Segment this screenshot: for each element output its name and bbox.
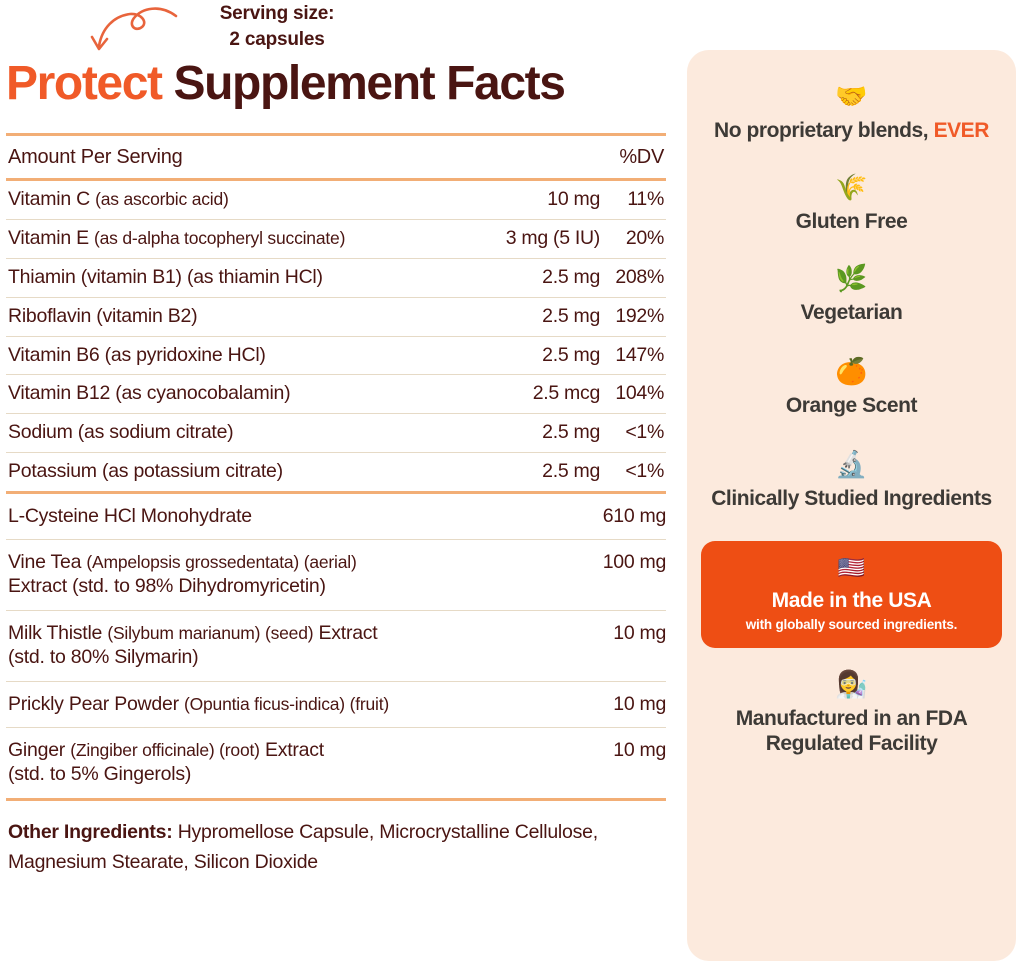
ingredient-source: (Opuntia ficus-indica) (fruit)	[184, 694, 389, 714]
benefit-label: Gluten Free	[701, 209, 1002, 234]
ingredient-dv: 20%	[600, 227, 666, 251]
ingredient-dv: <1%	[600, 460, 666, 484]
other-ingredients: Other Ingredients: Hypromellose Capsule,…	[6, 801, 666, 877]
ingredient-dv: 208%	[600, 266, 666, 290]
ingredient-name: L-Cysteine HCl Monohydrate	[6, 505, 546, 529]
ingredient-dv: 104%	[600, 382, 666, 406]
percent-dv-header: %DV	[600, 145, 666, 169]
ingredient-amount: 100 mg	[546, 551, 666, 575]
handshake-icon: 🤝	[701, 82, 1002, 112]
ingredient-name-line3: (std. to 5% Gingerols)	[8, 763, 191, 785]
botanicals-section: L-Cysteine HCl Monohydrate 610 mg Vine T…	[6, 494, 666, 798]
ingredient-source: (as ascorbic acid)	[95, 189, 229, 209]
ingredient-dv: <1%	[600, 421, 666, 445]
ingredient-amount: 3 mg (5 IU)	[450, 227, 600, 251]
table-row: Thiamin (vitamin B1) (as thiamin HCl) 2.…	[6, 259, 666, 297]
ingredient-name-suffix: Extract	[260, 739, 324, 761]
ingredient-amount: 2.5 mg	[450, 344, 600, 368]
ingredient-amount: 10 mg	[546, 739, 666, 763]
table-row: Ginger (Zingiber officinale) (root) Extr…	[6, 728, 666, 798]
table-row: Prickly Pear Powder (Opuntia ficus-indic…	[6, 682, 666, 728]
ingredient-dv: 11%	[600, 188, 666, 212]
supplement-facts-page: Serving size: 2 capsules Protect Supplem…	[0, 0, 1024, 969]
ingredient-source: (Ampelopsis grossedentata) (aerial)	[86, 552, 356, 572]
ingredient-amount: 610 mg	[546, 505, 666, 529]
ingredient-source: (Silybum marianum) (seed)	[107, 623, 313, 643]
table-row: Vitamin E (as d-alpha tocopheryl succina…	[6, 220, 666, 258]
table-row: Sodium (as sodium citrate) 2.5 mg <1%	[6, 414, 666, 452]
ingredient-name: Sodium (as sodium citrate)	[6, 421, 450, 445]
benefit-no-proprietary-blends: 🤝 No proprietary blends, EVER	[701, 82, 1002, 143]
table-row: Vitamin C (as ascorbic acid) 10 mg 11%	[6, 181, 666, 219]
title-accent-word: Protect	[6, 57, 162, 110]
ingredient-amount: 2.5 mg	[450, 305, 600, 329]
benefit-label: Clinically Studied Ingredients	[701, 486, 1002, 511]
ingredient-amount: 2.5 mg	[450, 460, 600, 484]
benefit-orange-scent: 🍊 Orange Scent	[701, 357, 1002, 418]
ingredient-source: (Zingiber officinale) (root)	[70, 740, 260, 760]
benefit-fda-regulated-facility: 👩‍🔬 Manufactured in an FDA Regulated Fac…	[701, 670, 1002, 756]
microscope-icon: 🔬	[701, 450, 1002, 480]
ingredient-amount: 2.5 mg	[450, 421, 600, 445]
table-row: Riboflavin (vitamin B2) 2.5 mg 192%	[6, 298, 666, 336]
benefit-label: Vegetarian	[701, 300, 1002, 325]
benefit-vegetarian: 🌿 Vegetarian	[701, 264, 1002, 325]
page-title: Protect Supplement Facts	[6, 60, 565, 108]
supplement-facts-table: Amount Per Serving %DV Vitamin C (as asc…	[6, 133, 666, 877]
amount-per-serving-header: Amount Per Serving	[6, 145, 600, 169]
ingredient-amount: 10 mg	[450, 188, 600, 212]
other-ingredients-label: Other Ingredients:	[8, 821, 173, 843]
table-row: Potassium (as potassium citrate) 2.5 mg …	[6, 453, 666, 491]
serving-size-text: Serving size: 2 capsules	[172, 1, 382, 52]
us-flag-icon: 🇺🇸	[711, 555, 992, 581]
table-header-row: Amount Per Serving %DV	[6, 136, 666, 178]
ingredient-name-line3: (std. to 80% Silymarin)	[8, 646, 198, 668]
ingredient-amount: 10 mg	[546, 693, 666, 717]
ingredient-name: Milk Thistle	[8, 622, 107, 644]
ingredient-name-suffix: Extract	[313, 622, 377, 644]
made-in-usa-label: Made in the USA	[711, 588, 992, 613]
serving-size-line1: Serving size:	[220, 3, 335, 24]
table-row: Milk Thistle (Silybum marianum) (seed) E…	[6, 611, 666, 681]
ingredient-name: Prickly Pear Powder	[8, 693, 184, 715]
ingredient-name: Vitamin C	[8, 188, 95, 210]
made-in-usa-subtext: with globally sourced ingredients.	[711, 617, 992, 632]
serving-size-callout: Serving size: 2 capsules	[84, 0, 384, 56]
ingredient-amount: 10 mg	[546, 622, 666, 646]
ingredient-name: Riboflavin (vitamin B2)	[6, 305, 450, 329]
table-row: Vitamin B6 (as pyridoxine HCl) 2.5 mg 14…	[6, 337, 666, 375]
title-base-words: Supplement Facts	[174, 57, 565, 110]
table-row: L-Cysteine HCl Monohydrate 610 mg	[6, 494, 666, 540]
herb-icon: 🌿	[701, 264, 1002, 294]
ingredient-name: Vitamin E	[8, 227, 94, 249]
ingredient-source: (as d-alpha tocopheryl succinate)	[94, 228, 345, 248]
ingredient-dv: 147%	[600, 344, 666, 368]
benefit-gluten-free: 🌾 Gluten Free	[701, 173, 1002, 234]
ingredient-name-line2: Extract (std. to 98% Dihydromyricetin)	[8, 575, 326, 597]
sheaf-of-rice-icon: 🌾	[701, 173, 1002, 203]
serving-size-line2: 2 capsules	[229, 29, 324, 50]
ingredient-amount: 2.5 mcg	[450, 382, 600, 406]
ingredient-dv: 192%	[600, 305, 666, 329]
scientist-icon: 👩‍🔬	[701, 670, 1002, 700]
table-row: Vine Tea (Ampelopsis grossedentata) (aer…	[6, 540, 666, 610]
ingredient-amount: 2.5 mg	[450, 266, 600, 290]
benefit-clinically-studied: 🔬 Clinically Studied Ingredients	[701, 450, 1002, 511]
benefit-label: Orange Scent	[701, 393, 1002, 418]
benefit-label-accent: EVER	[934, 119, 989, 142]
ingredient-name: Vitamin B12 (as cyanocobalamin)	[6, 382, 450, 406]
ingredient-name: Potassium (as potassium citrate)	[6, 460, 450, 484]
ingredient-name: Thiamin (vitamin B1) (as thiamin HCl)	[6, 266, 450, 290]
table-row: Vitamin B12 (as cyanocobalamin) 2.5 mcg …	[6, 375, 666, 413]
curved-arrow-icon	[84, 2, 180, 54]
made-in-usa-card: 🇺🇸 Made in the USA with globally sourced…	[701, 541, 1002, 648]
vitamins-section: Vitamin C (as ascorbic acid) 10 mg 11% V…	[6, 181, 666, 490]
benefit-label: No proprietary blends,	[714, 119, 934, 142]
tangerine-icon: 🍊	[701, 357, 1002, 387]
ingredient-name: Ginger	[8, 739, 70, 761]
supplement-facts-panel: Serving size: 2 capsules Protect Supplem…	[0, 0, 672, 969]
benefit-label: Manufactured in an FDA Regulated Facilit…	[701, 706, 1002, 756]
benefits-panel: 🤝 No proprietary blends, EVER 🌾 Gluten F…	[687, 50, 1016, 961]
ingredient-name: Vine Tea	[8, 551, 86, 573]
ingredient-name: Vitamin B6 (as pyridoxine HCl)	[6, 344, 450, 368]
